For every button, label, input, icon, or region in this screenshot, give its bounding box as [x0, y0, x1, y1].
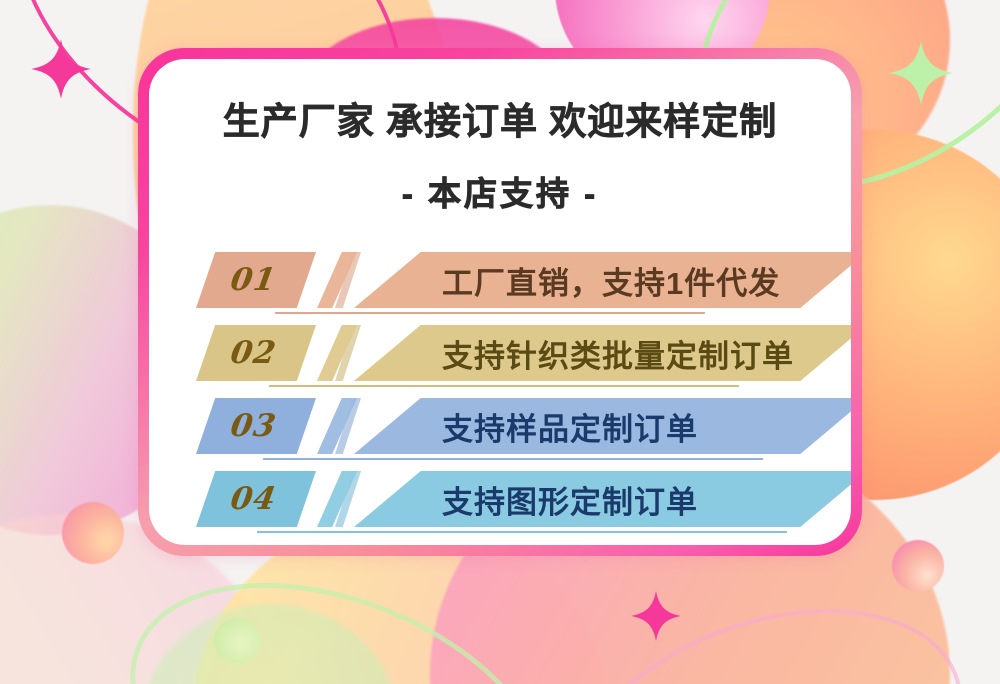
sparkle-bottom-center-icon [630, 590, 682, 642]
feature-row: 02支持针织类批量定制订单 [149, 325, 851, 398]
feature-row-number-badge: 02 [196, 325, 316, 381]
feature-row-number-badge: 01 [196, 252, 316, 308]
page-title: 生产厂家 承接订单 欢迎来样定制 [149, 102, 851, 143]
feature-row: 01工厂直销，支持1件代发 [149, 252, 851, 325]
feature-row-number: 04 [229, 481, 280, 517]
green-blob-bottom-decoration [140, 604, 400, 684]
sparkle-top-left-icon [30, 38, 92, 100]
feature-row-underline [263, 458, 764, 460]
feature-row-banner: 支持针织类批量定制订单 [354, 325, 851, 381]
feature-row-number: 03 [229, 408, 280, 444]
feature-row-number-badge: 04 [196, 471, 316, 527]
feature-row-underline [269, 385, 740, 387]
sparkle-top-right-icon [888, 40, 954, 106]
feature-row: 03支持样品定制订单 [149, 398, 851, 471]
feature-row-label: 支持针织类批量定制订单 [442, 331, 794, 376]
feature-row-banner: 支持样品定制订单 [354, 398, 851, 454]
feature-row-underline [275, 312, 706, 314]
feature-row-banner: 支持图形定制订单 [354, 471, 851, 527]
gradient-sphere-left-decoration [62, 502, 124, 564]
feature-row-number: 02 [229, 335, 280, 371]
page-subtitle: - 本店支持 - [149, 167, 851, 215]
promo-card: 生产厂家 承接订单 欢迎来样定制 - 本店支持 - 01工厂直销，支持1件代发0… [138, 48, 862, 556]
feature-row-label: 支持样品定制订单 [442, 404, 698, 449]
feature-list: 01工厂直销，支持1件代发02支持针织类批量定制订单03支持样品定制订单04支持… [149, 252, 851, 544]
feature-row-underline [257, 531, 788, 533]
feature-row: 04支持图形定制订单 [149, 471, 851, 544]
green-sphere-bottom-decoration [214, 618, 260, 664]
promo-banner-stage: 生产厂家 承接订单 欢迎来样定制 - 本店支持 - 01工厂直销，支持1件代发0… [0, 0, 1000, 684]
feature-row-label: 工厂直销，支持1件代发 [442, 258, 780, 303]
gradient-sphere-right-decoration [892, 540, 944, 592]
feature-row-banner: 工厂直销，支持1件代发 [354, 252, 851, 308]
promo-card-inner: 生产厂家 承接订单 欢迎来样定制 - 本店支持 - 01工厂直销，支持1件代发0… [149, 59, 851, 545]
feature-row-label: 支持图形定制订单 [442, 477, 698, 522]
feature-row-number: 01 [229, 262, 280, 298]
feature-row-number-badge: 03 [196, 398, 316, 454]
